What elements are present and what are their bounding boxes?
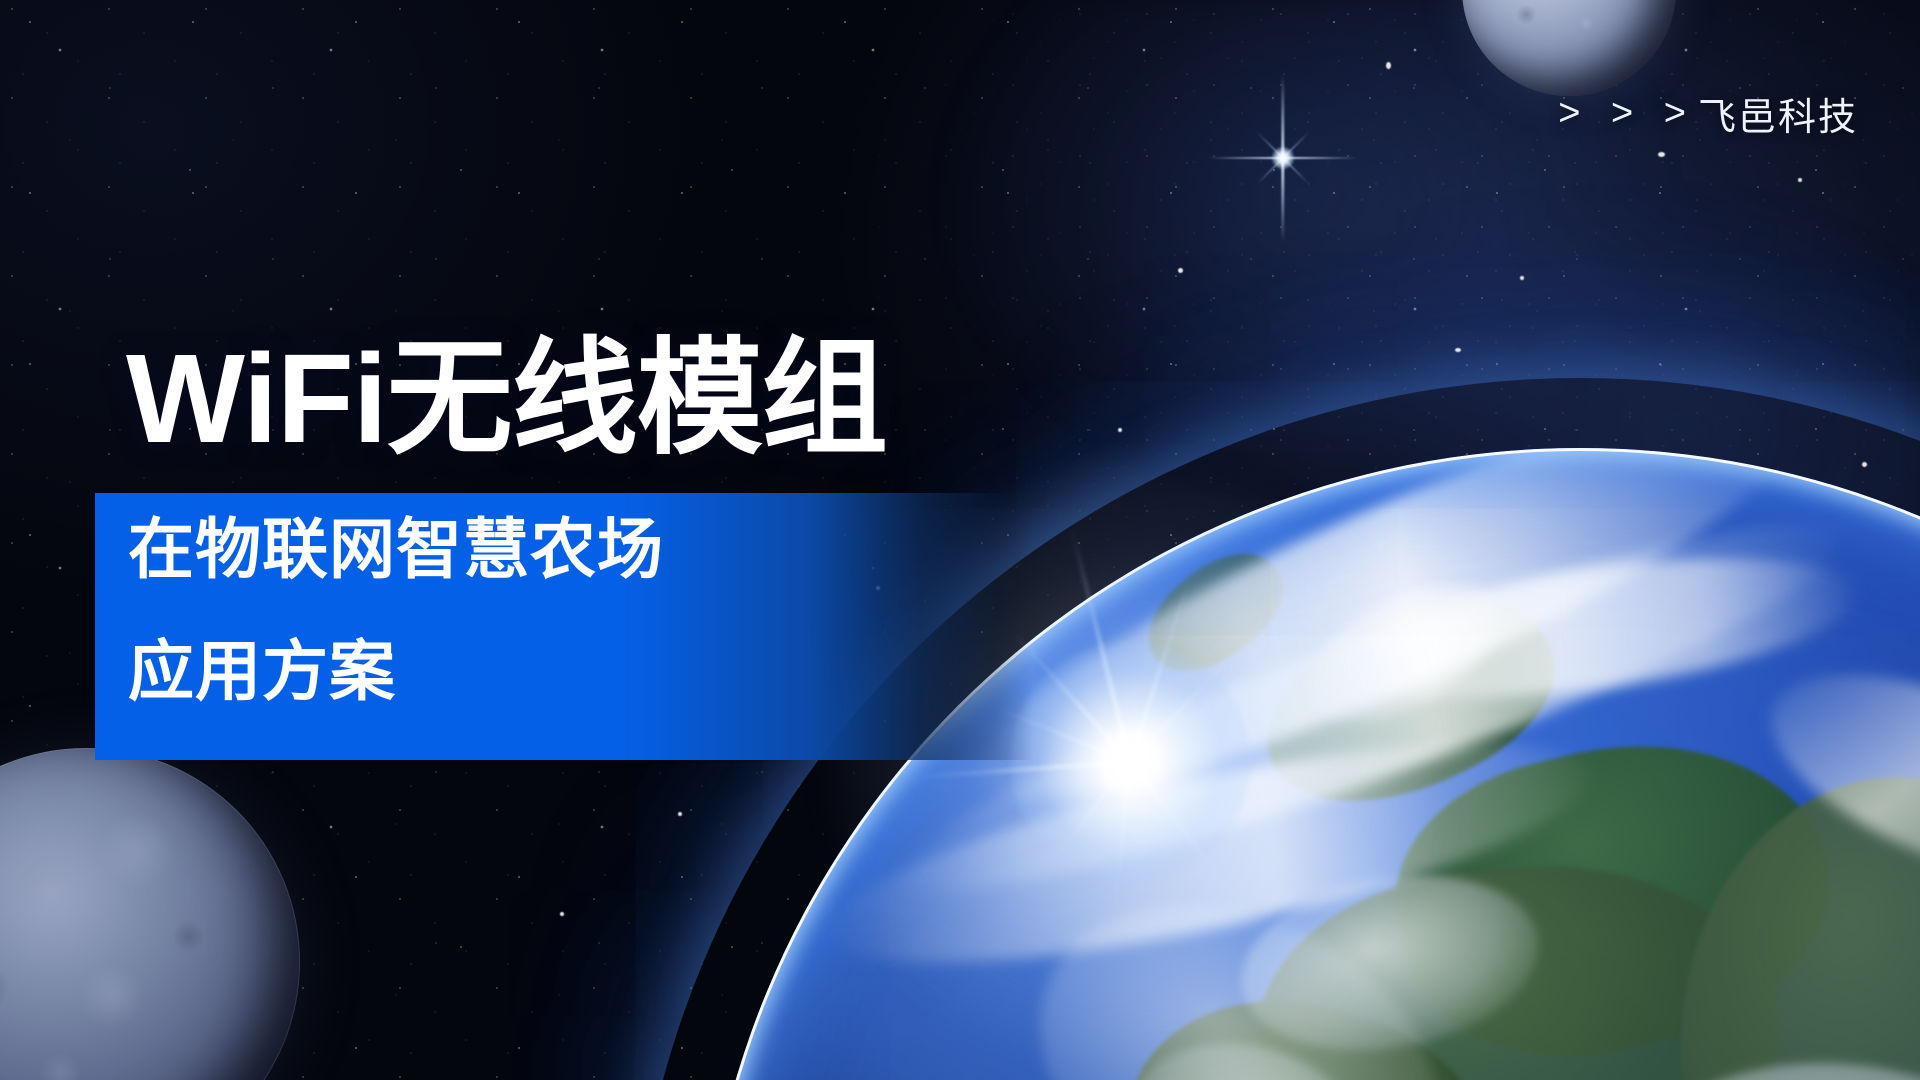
star-speck [1118,428,1122,432]
brand-label: > > > 飞邑科技 [1558,86,1858,141]
brand-name: 飞邑科技 [1698,86,1858,141]
moon-icon [0,748,300,1080]
sun-flare-core [1010,642,1250,882]
star-speck [1520,276,1524,280]
star-speck [1386,62,1391,69]
star-speck [1862,462,1867,467]
subtitle-line-1: 在物联网智慧农场 [128,516,988,582]
moon-icon [1462,0,1676,96]
star-speck [1178,268,1183,273]
page-title: WiFi无线模组 [126,336,887,462]
subtitle-line-2: 应用方案 [128,638,988,704]
star-speck [1798,178,1802,182]
sparkle-core [1272,147,1294,169]
star-speck [1455,348,1461,352]
star-speck [1658,152,1665,157]
star-speck [560,912,564,916]
presentation-slide: > > > 飞邑科技 WiFi无线模组 在物联网智慧农场 应用方案 [0,0,1920,1080]
star-speck [678,812,682,816]
moon-craters [1462,0,1676,96]
chevron-right-icon: > > > [1558,92,1696,135]
subtitle-text-group: 在物联网智慧农场 应用方案 [128,516,988,704]
